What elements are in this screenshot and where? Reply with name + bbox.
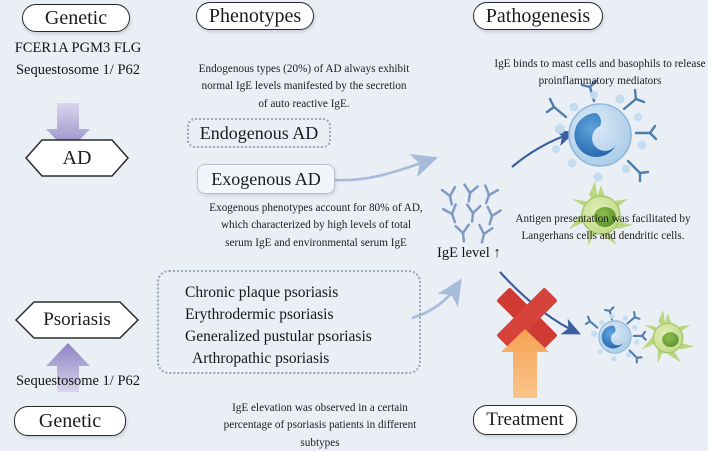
label-exogenous-ad-text: Exogenous AD	[211, 169, 321, 190]
node-treatment-label: Treatment	[486, 409, 563, 431]
mast-cell-small-icon	[586, 307, 646, 362]
label-exogenous-ad[interactable]: Exogenous AD	[197, 164, 335, 194]
ige-antibody-cluster	[442, 185, 501, 244]
header-pathogenesis[interactable]: Pathogenesis	[473, 2, 603, 30]
node-psoriasis[interactable]: Psoriasis	[16, 302, 138, 338]
ige-to-effector-arrow	[500, 272, 578, 333]
antigen-presentation-caption: Antigen presentation was facilitated by …	[500, 211, 706, 246]
mast-cell-icon	[547, 81, 656, 182]
node-ad-label: AD	[63, 147, 92, 170]
list-item: Chronic plaque psoriasis	[185, 282, 403, 304]
exogenous-to-ige-arrow	[333, 159, 433, 180]
list-item: Erythrodermic psoriasis	[185, 304, 403, 326]
header-phenotypes-label: Phenotypes	[209, 5, 301, 28]
label-endogenous-ad-text: Endogenous AD	[200, 123, 319, 144]
treatment-arrow	[501, 329, 549, 398]
treatment-block-x-icon	[479, 270, 575, 366]
node-ad[interactable]: AD	[26, 140, 128, 176]
psoriasis-caption: IgE elevation was observed in a certain …	[212, 400, 428, 451]
header-phenotypes[interactable]: Phenotypes	[196, 2, 314, 30]
header-genetic-top-label: Genetic	[45, 7, 107, 30]
figure-canvas: Genetic Phenotypes Pathogenesis Genetic …	[0, 0, 708, 451]
header-genetic-bottom[interactable]: Genetic	[14, 406, 126, 436]
ige-to-mastcell-arrow	[512, 133, 572, 167]
header-genetic-top[interactable]: Genetic	[22, 4, 130, 32]
ige-level-label: IgE level ↑	[437, 245, 501, 262]
exogenous-caption: Exogenous phenotypes account for 80% of …	[208, 200, 424, 252]
label-endogenous-ad[interactable]: Endogenous AD	[187, 118, 331, 148]
ad-gene-list-line1: FCER1A PGM3 FLG	[0, 40, 156, 57]
mast-cell-caption: IgE binds to mast cells and basophils to…	[494, 56, 706, 91]
header-genetic-bottom-label: Genetic	[39, 410, 101, 433]
node-psoriasis-label: Psoriasis	[43, 309, 111, 331]
psoriasis-gene-list: Sequestosome 1/ P62	[0, 373, 156, 390]
endogenous-caption: Endogenous types (20%) of AD always exhi…	[196, 61, 412, 113]
ad-gene-list-line2: Sequestosome 1/ P62	[0, 62, 156, 79]
dendritic-cell-small-icon	[642, 310, 694, 363]
list-item: Generalized pustular psoriasis	[185, 326, 403, 348]
list-item: Arthropathic psoriasis	[185, 348, 403, 370]
psoriasis-subtypes-box[interactable]: Chronic plaque psoriasis Erythrodermic p…	[157, 270, 421, 374]
header-pathogenesis-label: Pathogenesis	[486, 5, 590, 28]
node-treatment[interactable]: Treatment	[473, 405, 577, 435]
